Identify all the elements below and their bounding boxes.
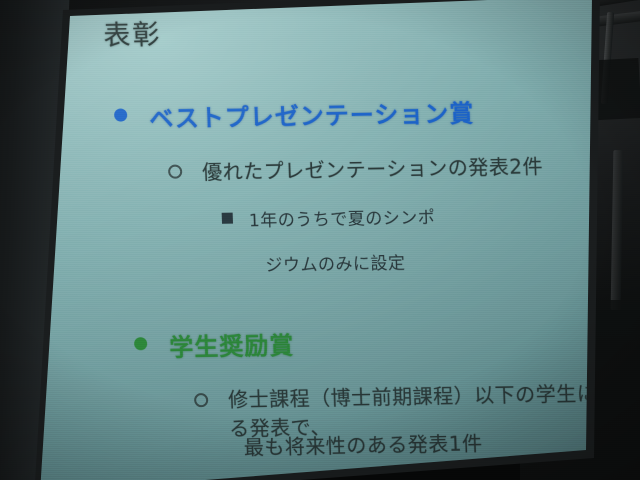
sub-text-student-award-line2: 最も将来性のある発表1件 xyxy=(243,427,483,460)
bullet-row-level1-best-presentation: ベストプレゼンテーション賞 xyxy=(114,93,475,134)
bullet-square-icon xyxy=(222,213,233,224)
presentation-slide: 表彰 ベストプレゼンテーション賞 優れたプレゼンテーションの発表2件 1年のうち… xyxy=(96,0,633,480)
bullet-dot-green-icon xyxy=(134,337,147,350)
bullet-row-level2-excellent-presentation: 優れたプレゼンテーションの発表2件 xyxy=(168,150,544,186)
bullet-row-level1-student-award: 学生奨励賞 xyxy=(134,326,295,364)
bullet-row-level3-symposium-line2: ジウムのみに設定 xyxy=(265,249,406,276)
projector-photo-scene: 表彰 ベストプレゼンテーション賞 優れたプレゼンテーションの発表2件 1年のうち… xyxy=(0,0,640,480)
bullet-ring-icon xyxy=(168,165,182,179)
bullet-row-level2-student-award-line2: 最も将来性のある発表1件 xyxy=(243,427,483,460)
detail-text-symposium-line1: 1年のうちで夏のシンポ xyxy=(248,203,435,231)
slide-title: 表彰 xyxy=(103,13,162,53)
section-heading-best-presentation: ベストプレゼンテーション賞 xyxy=(149,93,475,134)
bullet-ring-icon xyxy=(194,393,208,407)
projection-screen: 表彰 ベストプレゼンテーション賞 優れたプレゼンテーションの発表2件 1年のうち… xyxy=(34,0,600,480)
detail-text-symposium-line2: ジウムのみに設定 xyxy=(265,249,406,276)
sub-text-excellent-presentation: 優れたプレゼンテーションの発表2件 xyxy=(202,150,544,185)
bullet-dot-blue-icon xyxy=(114,108,127,121)
bullet-row-level3-symposium-line1: 1年のうちで夏のシンポ xyxy=(221,203,435,232)
section-heading-student-award: 学生奨励賞 xyxy=(169,326,295,363)
